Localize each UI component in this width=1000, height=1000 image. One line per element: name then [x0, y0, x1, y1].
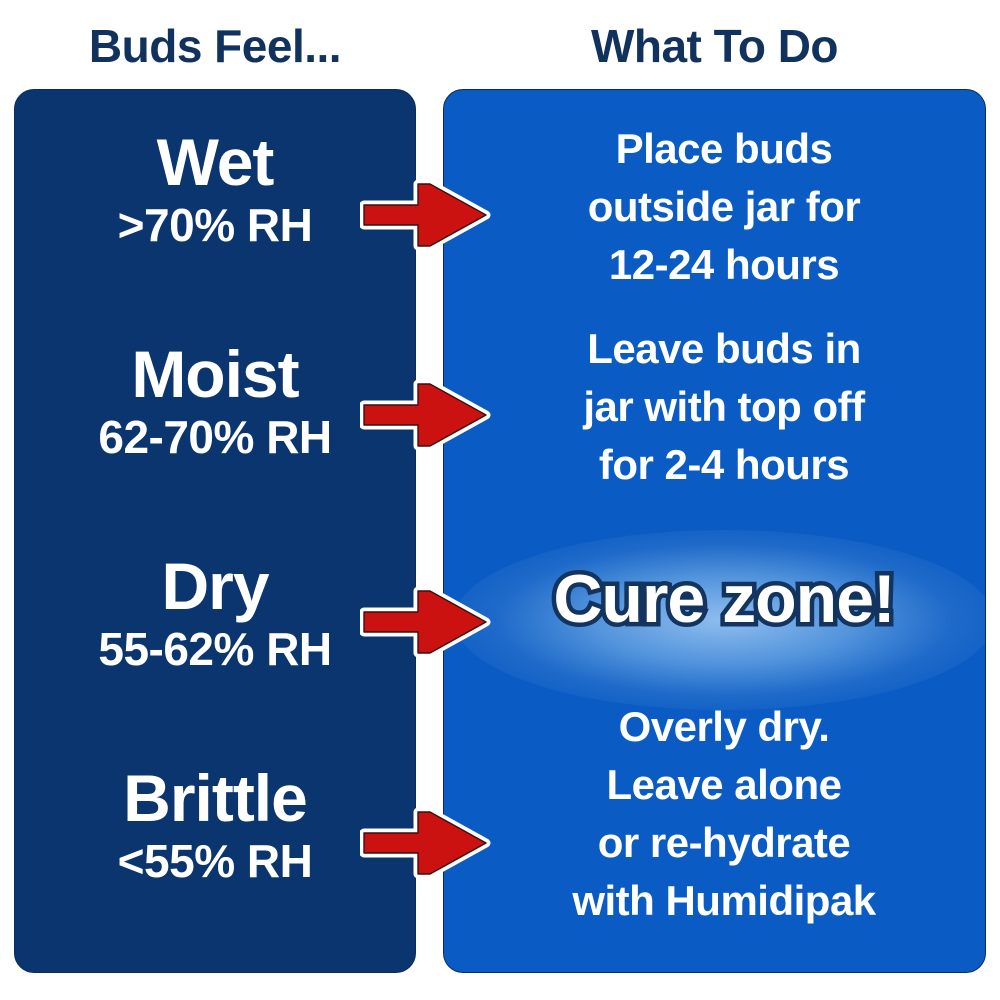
action-row: Place buds outside jar for 12-24 hours — [484, 120, 964, 294]
humidity-range-label: 62-70% RH — [15, 410, 415, 464]
column-header-what-to-do: What To Do — [443, 16, 986, 76]
cure-zone-label: Cure zone! — [484, 556, 964, 642]
right-arrow-icon — [360, 378, 492, 452]
buds-feel-row: Brittle <55% RH — [15, 762, 415, 888]
action-line: Overly dry. — [484, 698, 964, 756]
action-row: Overly dry. Leave alone or re-hydrate wi… — [484, 698, 964, 930]
action-line: for 2-4 hours — [484, 436, 964, 494]
state-label: Moist — [15, 338, 415, 410]
humidity-guide-infographic: Buds Feel... What To Do Wet >70% RH Mois… — [0, 0, 1000, 1000]
action-line: Leave buds in — [484, 320, 964, 378]
state-label: Wet — [15, 126, 415, 198]
humidity-range-label: <55% RH — [15, 834, 415, 888]
action-line: or re-hydrate — [484, 814, 964, 872]
state-label: Dry — [15, 550, 415, 622]
buds-feel-row: Moist 62-70% RH — [15, 338, 415, 464]
buds-feel-panel: Wet >70% RH Moist 62-70% RH Dry 55-62% R… — [14, 89, 416, 973]
column-header-buds-feel: Buds Feel... — [14, 16, 416, 76]
buds-feel-row: Wet >70% RH — [15, 126, 415, 252]
action-line: jar with top off — [484, 378, 964, 436]
right-arrow-icon — [360, 178, 492, 252]
right-arrow-icon — [360, 585, 492, 659]
action-line: outside jar for — [484, 178, 964, 236]
action-line: 12-24 hours — [484, 236, 964, 294]
action-line: Leave alone — [484, 756, 964, 814]
humidity-range-label: >70% RH — [15, 198, 415, 252]
action-row: Leave buds in jar with top off for 2-4 h… — [484, 320, 964, 494]
what-to-do-panel: Place buds outside jar for 12-24 hours L… — [443, 89, 986, 973]
action-line: with Humidipak — [484, 872, 964, 930]
right-arrow-icon — [360, 806, 492, 880]
action-line: Place buds — [484, 120, 964, 178]
humidity-range-label: 55-62% RH — [15, 622, 415, 676]
action-row-cure-zone: Cure zone! — [484, 556, 964, 642]
state-label: Brittle — [15, 762, 415, 834]
buds-feel-row: Dry 55-62% RH — [15, 550, 415, 676]
